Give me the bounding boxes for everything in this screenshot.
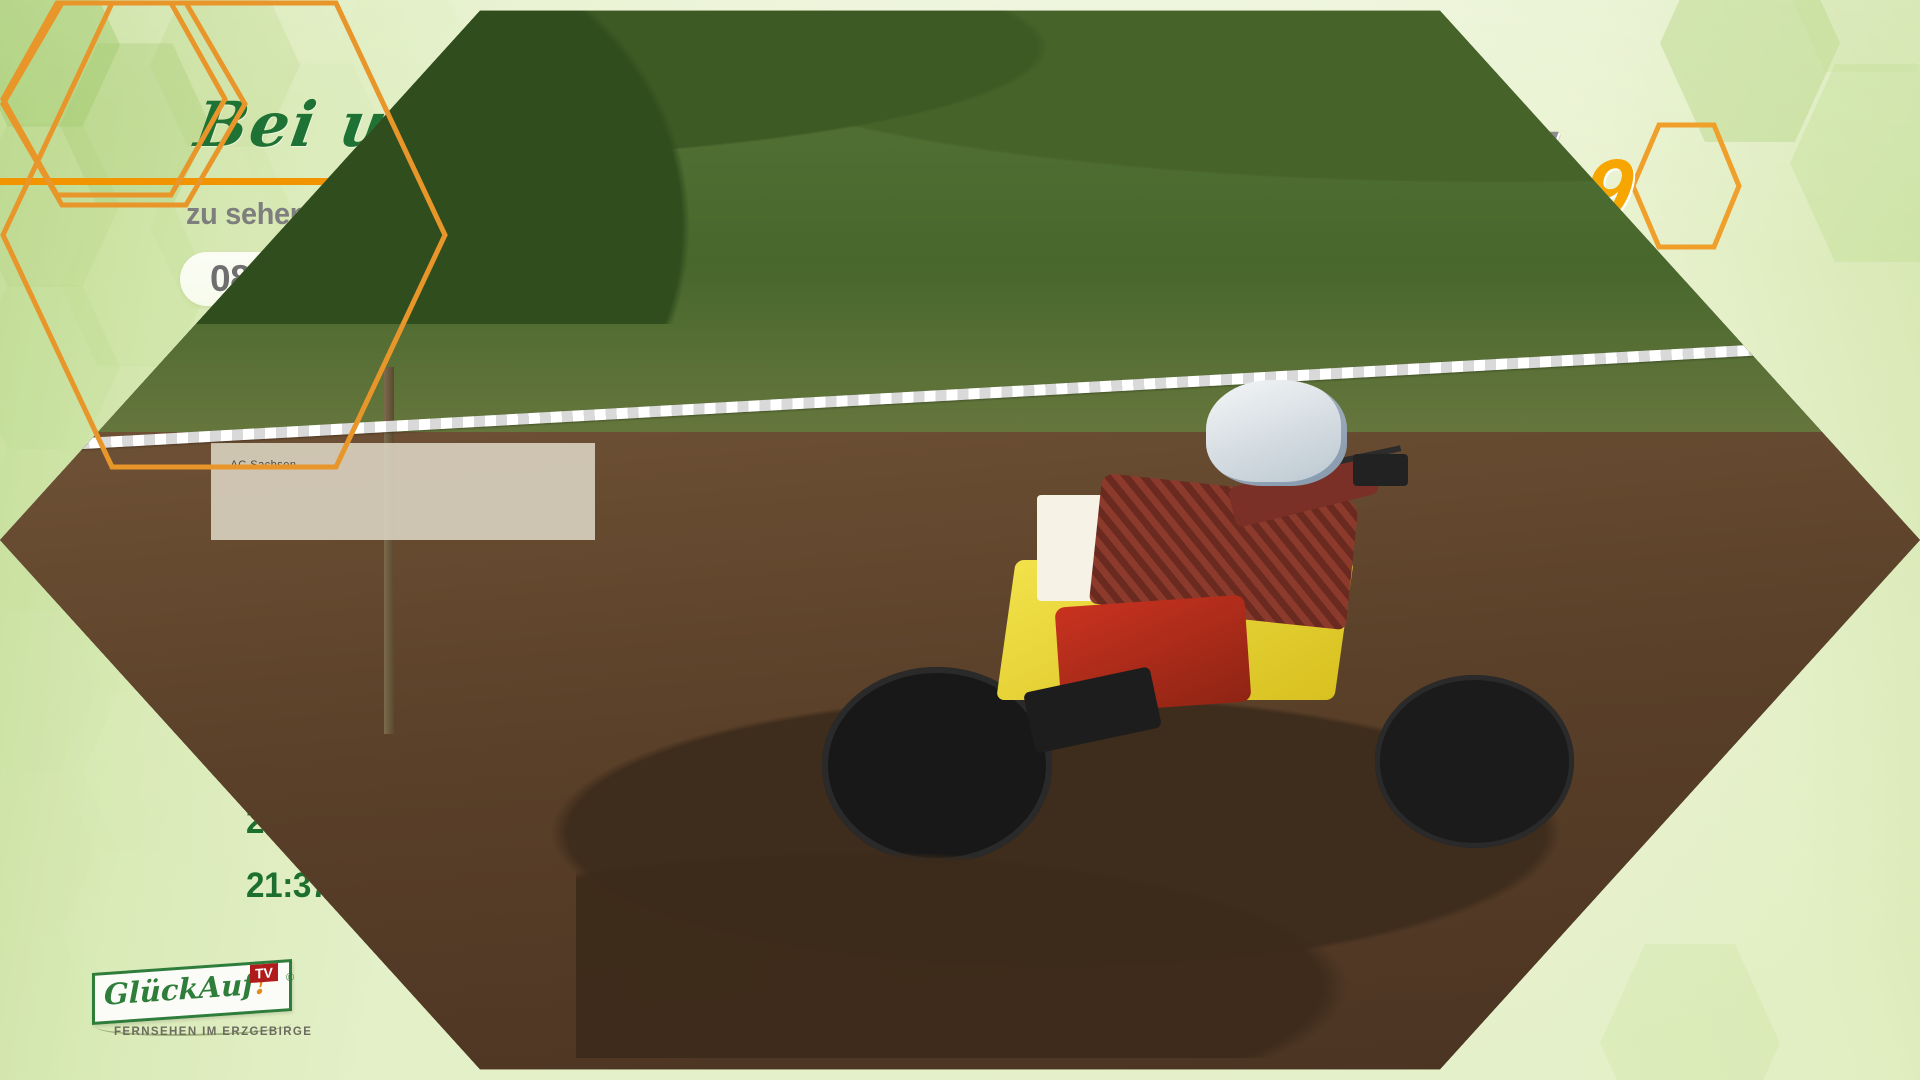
enduro-motorcycle-photo: AC Sachsen 20 [0, 406, 448, 876]
enduro-motorcycle-photo-frame [0, 0, 1920, 1080]
glueckauf-tagline: FERNSEHEN IM ERZGEBIRGE [114, 1026, 312, 1038]
glueckauf-registered-mark: ® [286, 972, 294, 984]
glueckauf-tv-logo: GlückAuf! TV ® FERNSEHEN IM ERZGEBIRGE [92, 966, 304, 1054]
glueckauf-tv-badge: TV [250, 963, 278, 983]
program-slide: Bei uns im Erzgebirge zu sehen u.a. tägl… [0, 0, 1920, 1080]
